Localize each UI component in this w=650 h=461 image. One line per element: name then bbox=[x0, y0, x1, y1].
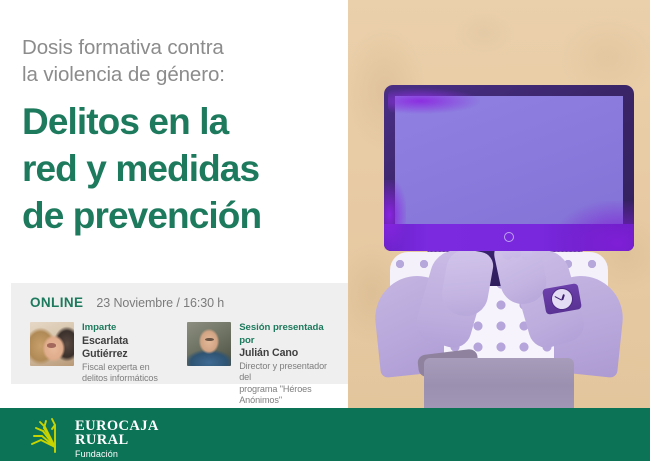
event-datetime: 23 Noviembre / 16:30 h bbox=[96, 296, 224, 310]
speaker-list: Imparte Escarlata Gutiérrez Fiscal exper… bbox=[30, 322, 335, 418]
speaker-description-line-2: programa "Héroes Anónimos" bbox=[239, 384, 335, 407]
speaker-description-line-2: delitos informáticos bbox=[82, 373, 172, 385]
speaker-text-block: Imparte Escarlata Gutiérrez Fiscal exper… bbox=[82, 322, 172, 418]
logo-name-line-2: RURAL bbox=[75, 434, 159, 448]
avatar-escarlata-gutierrez bbox=[30, 322, 74, 366]
speaker-role: Imparte bbox=[82, 322, 172, 335]
avatar-julian-cano bbox=[187, 322, 231, 366]
skirt-shape bbox=[424, 358, 574, 408]
monitor-glow-left bbox=[384, 180, 406, 250]
event-poster: Dosis formativa contra la violencia de g… bbox=[0, 0, 650, 461]
online-badge: ONLINE bbox=[30, 295, 83, 310]
poster-headline: Delitos en la red y medidas de prevenció… bbox=[22, 98, 342, 239]
monitor-glow-top-left bbox=[388, 88, 480, 114]
footer-bar: EUROCAJA RURAL Fundación bbox=[0, 408, 650, 461]
speaker-description-line-1: Director y presentador del bbox=[239, 361, 335, 384]
power-indicator-icon bbox=[504, 232, 514, 242]
speaker-text-block: Sesión presentada por Julián Cano Direct… bbox=[239, 322, 335, 418]
event-info-bar: ONLINE 23 Noviembre / 16:30 h Imparte Es… bbox=[11, 283, 348, 384]
speaker-name: Julián Cano bbox=[239, 347, 335, 361]
subtitle-line-2: la violencia de género: bbox=[22, 61, 332, 88]
eurocaja-rural-leaf-icon bbox=[28, 416, 70, 456]
poster-illustration bbox=[348, 0, 650, 408]
logo-wordmark: EUROCAJA RURAL Fundación bbox=[75, 416, 159, 460]
headline-line-1: Delitos en la bbox=[22, 98, 342, 145]
headline-line-2: red y medidas bbox=[22, 145, 342, 192]
headline-line-3: de prevención bbox=[22, 192, 342, 239]
eurocaja-rural-logo: EUROCAJA RURAL Fundación bbox=[28, 416, 159, 460]
poster-subtitle: Dosis formativa contra la violencia de g… bbox=[22, 34, 332, 88]
speaker-name: Escarlata Gutiérrez bbox=[82, 335, 172, 362]
online-datetime-row: ONLINE 23 Noviembre / 16:30 h bbox=[30, 295, 224, 310]
speaker-role: Sesión presentada por bbox=[239, 322, 335, 347]
speaker-card-julian-cano: Sesión presentada por Julián Cano Direct… bbox=[187, 322, 335, 418]
logo-subtitle: Fundación bbox=[75, 447, 159, 460]
watch-face bbox=[549, 286, 574, 311]
monitor-glow-bottom-right bbox=[554, 201, 634, 251]
left-text-panel: Dosis formativa contra la violencia de g… bbox=[0, 0, 348, 408]
subtitle-line-1: Dosis formativa contra bbox=[22, 34, 332, 61]
monitor-icon bbox=[384, 85, 634, 251]
speaker-description-line-1: Fiscal experta en bbox=[82, 362, 172, 374]
speaker-card-escarlata-gutierrez: Imparte Escarlata Gutiérrez Fiscal exper… bbox=[30, 322, 172, 418]
